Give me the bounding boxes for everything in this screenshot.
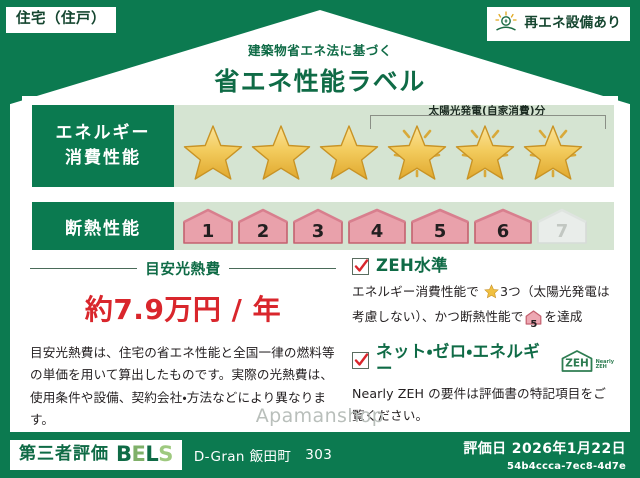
star-rating — [174, 118, 586, 180]
utility-cost-note: 目安光熱費は、住宅の省エネ性能と全国一律の燃料等の単価を用いて算出したものです。… — [30, 342, 336, 432]
zeh-logo: ZEH Nearly ZEH — [560, 349, 614, 373]
star-filled — [180, 118, 246, 180]
evaluation-date: 評価日 2026年1月22日 — [463, 438, 626, 458]
insulation-level-number: 5 — [410, 223, 470, 241]
utility-cost-title: 目安光熱費 — [145, 258, 221, 279]
bels-jp-label: 第三者評価 — [19, 446, 109, 463]
inline-level-number: 5 — [525, 320, 542, 330]
star-filled — [248, 118, 314, 180]
energy-performance-label: エネルギー 消費性能 — [32, 105, 174, 187]
property-room-number: 303 — [305, 447, 332, 463]
utility-cost-column: 目安光熱費 約7.9万円 / 年 目安光熱費は、住宅の省エネ性能と全国一律の燃料… — [30, 258, 336, 432]
insulation-level-number: 1 — [182, 223, 234, 241]
insulation-level-number: 3 — [292, 223, 344, 241]
insulation-performance-row: 断熱性能 1 2 3 4 5 — [32, 202, 614, 250]
evaluation-info: 評価日 2026年1月22日 54b4ccca-7ec8-4d7e — [463, 438, 626, 472]
net-zero-energy-block: ネット・ゼロ・エネルギー ZEH Nearly ZEH Nearly ZEH の… — [352, 344, 614, 426]
page-title: 省エネ性能ラベル — [0, 62, 640, 98]
renewable-badge-label: 再エネ設備あり — [524, 17, 621, 31]
evaluation-id: 54b4ccca-7ec8-4d7e — [463, 461, 626, 472]
title-block: 建築物省エネ法に基づく 省エネ性能ラベル — [0, 40, 640, 98]
net-zero-body: Nearly ZEH の要件は評価書の特記項目をご覧ください。 — [352, 383, 614, 426]
zeh-logo-subtext: Nearly ZEH — [596, 360, 614, 373]
rule-right — [229, 268, 336, 270]
star-filled — [316, 118, 382, 180]
checkbox-checked-icon — [352, 352, 369, 369]
utility-cost-amount: 約7.9万円 / 年 — [30, 288, 336, 328]
energy-label-root: 住宅（住戸） 再エネ設備あり 建築物省エネ法に基づく 省エネ性能ラベル — [0, 0, 640, 478]
insulation-level-badge: 4 — [347, 207, 407, 245]
zeh-standard-header: ZEH水準 — [352, 258, 614, 275]
inline-star-icon — [480, 287, 499, 302]
zeh-standard-block: ZEH水準 エネルギー消費性能で 3つ（太陽光発電は考慮しない）、かつ断熱性能で… — [352, 258, 614, 331]
zeh-standard-title: ZEH水準 — [376, 258, 448, 275]
star-solar — [452, 118, 518, 180]
insulation-level-badge: 2 — [237, 207, 289, 245]
insulation-performance-label: 断熱性能 — [32, 202, 174, 250]
rule-left — [30, 268, 137, 270]
star-solar — [520, 118, 586, 180]
bels-en-logo: BELS — [116, 444, 173, 465]
renewable-equipment-badge: 再エネ設備あり — [487, 7, 630, 41]
title-subtitle: 建築物省エネ法に基づく — [0, 40, 640, 59]
insulation-level-badge: 6 — [473, 207, 533, 245]
insulation-level-number: 4 — [347, 223, 407, 241]
insulation-level-number: 2 — [237, 223, 289, 241]
insulation-level-badge: 3 — [292, 207, 344, 245]
insulation-level-number: 7 — [536, 223, 588, 241]
insulation-performance-value: 1 2 3 4 5 6 7 — [174, 202, 614, 250]
checkbox-checked-icon — [352, 258, 369, 275]
star-solar — [384, 118, 450, 180]
net-zero-header: ネット・ゼロ・エネルギー ZEH Nearly ZEH — [352, 344, 614, 377]
zeh-house-icon: ZEH — [560, 349, 594, 373]
footer-bar: 第三者評価 BELS D-Gran 飯田町 303 評価日 2026年1月22日… — [0, 432, 640, 478]
energy-performance-value: 太陽光発電(自家消費)分 — [174, 105, 614, 187]
zeh-standard-body: エネルギー消費性能で 3つ（太陽光発電は考慮しない）、かつ断熱性能で 5 を達成 — [352, 281, 614, 331]
insulation-level-badge: 1 — [182, 207, 234, 245]
svg-text:ZEH: ZEH — [565, 357, 589, 369]
zeh-column: ZEH水準 エネルギー消費性能で 3つ（太陽光発電は考慮しない）、かつ断熱性能で… — [352, 258, 614, 427]
insulation-level-list: 1 2 3 4 5 6 7 — [174, 207, 588, 245]
property-name: D-Gran 飯田町 — [194, 445, 291, 465]
utility-cost-header: 目安光熱費 — [30, 258, 336, 279]
sun-renewable-icon — [493, 11, 519, 37]
inline-level-badge: 5 — [525, 310, 542, 332]
insulation-level-badge: 7 — [536, 207, 588, 245]
net-zero-title: ネット・ゼロ・エネルギー — [376, 344, 551, 377]
insulation-level-number: 6 — [473, 223, 533, 241]
bels-certification-tag: 第三者評価 BELS — [10, 440, 182, 470]
insulation-level-badge: 5 — [410, 207, 470, 245]
energy-performance-row: エネルギー 消費性能 太陽光発電(自家消費)分 — [32, 105, 614, 187]
category-tag: 住宅（住戸） — [6, 7, 116, 33]
